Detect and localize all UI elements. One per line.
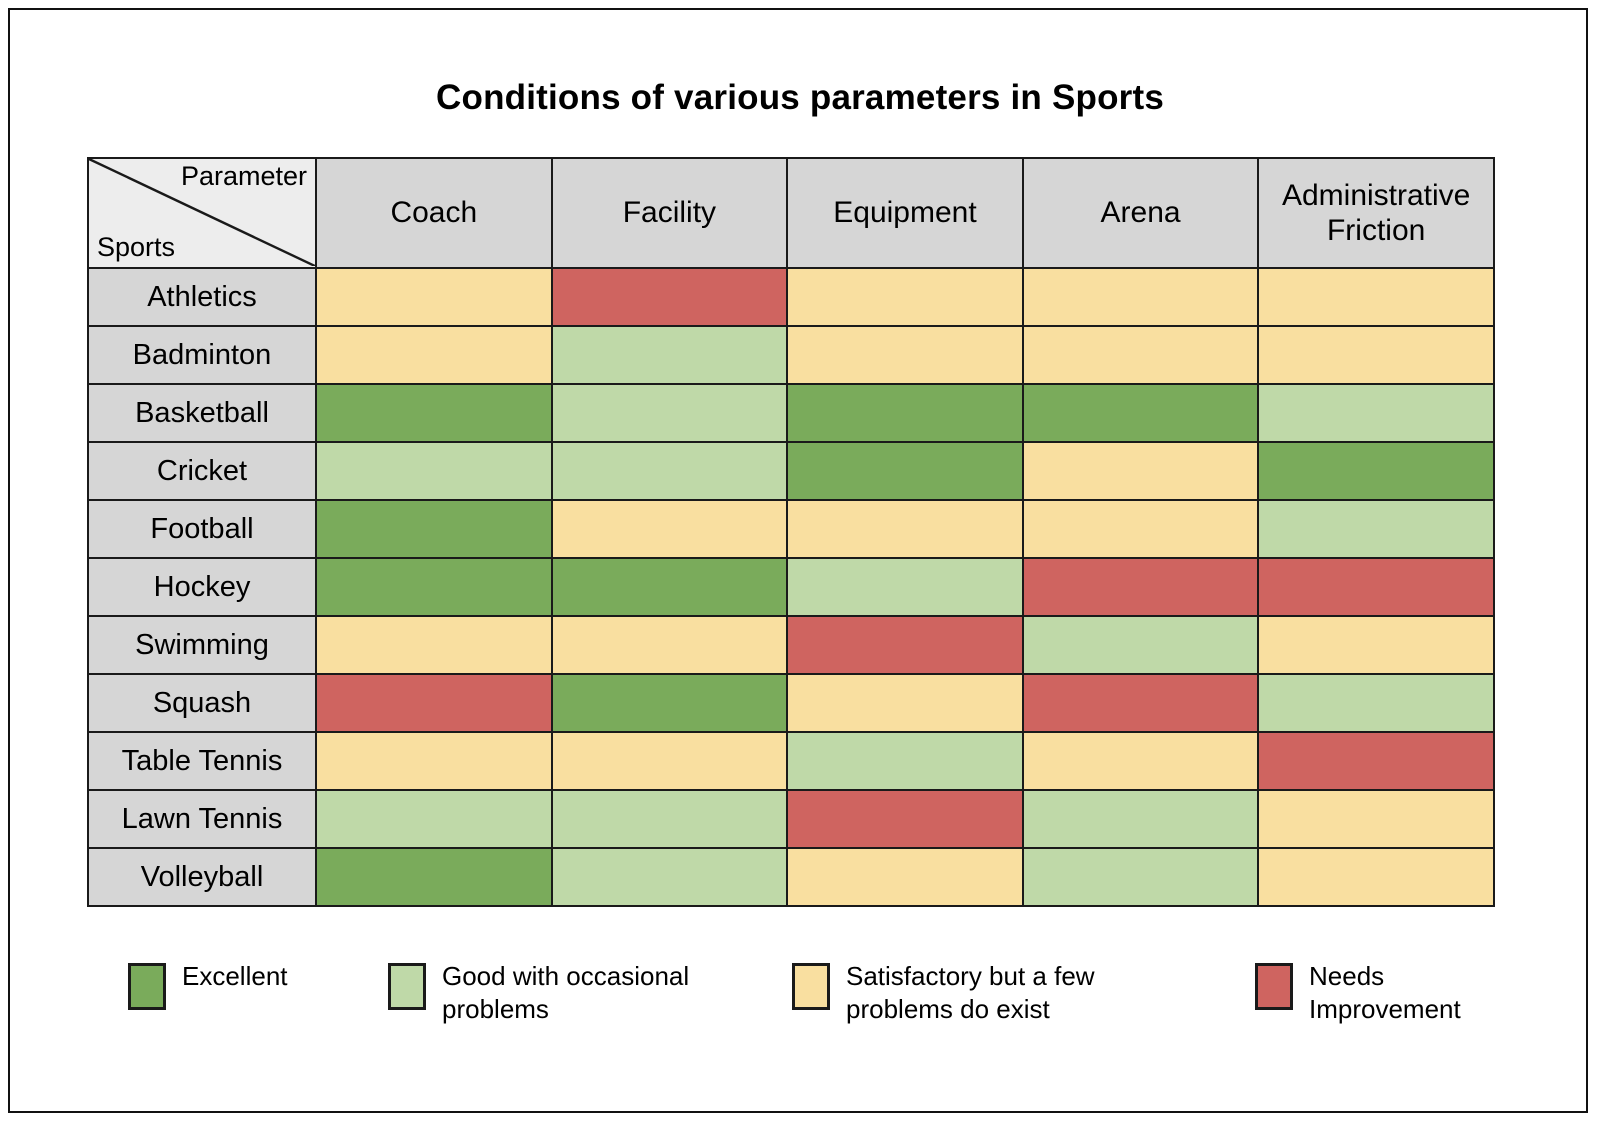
cell-hockey-facility	[552, 558, 788, 616]
matrix-row: Football	[88, 500, 1494, 558]
cell-volleyball-administrative-friction	[1258, 848, 1494, 906]
matrix-row: Volleyball	[88, 848, 1494, 906]
column-header-equipment: Equipment	[787, 158, 1023, 268]
legend-swatch-good	[388, 963, 426, 1010]
matrix-body: AthleticsBadmintonBasketballCricketFootb…	[88, 268, 1494, 906]
cell-swimming-coach	[316, 616, 552, 674]
cell-athletics-facility	[552, 268, 788, 326]
cell-athletics-equipment	[787, 268, 1023, 326]
row-header-table-tennis: Table Tennis	[88, 732, 316, 790]
row-header-badminton: Badminton	[88, 326, 316, 384]
row-header-cricket: Cricket	[88, 442, 316, 500]
cell-football-coach	[316, 500, 552, 558]
cell-table-tennis-equipment	[787, 732, 1023, 790]
cell-volleyball-equipment	[787, 848, 1023, 906]
matrix-row: Cricket	[88, 442, 1494, 500]
legend-item-good: Good with occasional problems	[388, 958, 689, 1027]
matrix-row: Table Tennis	[88, 732, 1494, 790]
legend: Excellent Good with occasional problems …	[10, 958, 1590, 1068]
cell-basketball-facility	[552, 384, 788, 442]
matrix-row: Basketball	[88, 384, 1494, 442]
row-header-football: Football	[88, 500, 316, 558]
cell-cricket-arena	[1023, 442, 1259, 500]
row-header-squash: Squash	[88, 674, 316, 732]
cell-swimming-arena	[1023, 616, 1259, 674]
cell-swimming-administrative-friction	[1258, 616, 1494, 674]
legend-item-satisfactory: Satisfactory but a few problems do exist	[792, 958, 1095, 1027]
conditions-matrix-table: Parameter Sports Coach Facility Equipmen…	[87, 157, 1495, 907]
matrix-row: Badminton	[88, 326, 1494, 384]
column-header-facility: Facility	[552, 158, 788, 268]
row-header-volleyball: Volleyball	[88, 848, 316, 906]
cell-basketball-equipment	[787, 384, 1023, 442]
legend-swatch-satisfactory	[792, 963, 830, 1010]
matrix-corner-header: Parameter Sports	[88, 158, 316, 268]
cell-hockey-equipment	[787, 558, 1023, 616]
row-axis-label: Sports	[97, 234, 175, 261]
cell-squash-facility	[552, 674, 788, 732]
matrix-row: Swimming	[88, 616, 1494, 674]
legend-label-good: Good with occasional problems	[442, 958, 689, 1027]
legend-label-satisfactory: Satisfactory but a few problems do exist	[846, 958, 1095, 1027]
cell-athletics-administrative-friction	[1258, 268, 1494, 326]
legend-item-excellent: Excellent	[128, 958, 288, 1010]
cell-football-arena	[1023, 500, 1259, 558]
row-header-lawn-tennis: Lawn Tennis	[88, 790, 316, 848]
cell-table-tennis-arena	[1023, 732, 1259, 790]
legend-item-needs: Needs Improvement	[1255, 958, 1461, 1027]
cell-lawn-tennis-equipment	[787, 790, 1023, 848]
cell-basketball-arena	[1023, 384, 1259, 442]
cell-swimming-facility	[552, 616, 788, 674]
cell-basketball-coach	[316, 384, 552, 442]
cell-lawn-tennis-arena	[1023, 790, 1259, 848]
row-header-swimming: Swimming	[88, 616, 316, 674]
cell-football-administrative-friction	[1258, 500, 1494, 558]
column-header-coach: Coach	[316, 158, 552, 268]
matrix-row: Lawn Tennis	[88, 790, 1494, 848]
cell-table-tennis-administrative-friction	[1258, 732, 1494, 790]
row-header-basketball: Basketball	[88, 384, 316, 442]
cell-football-equipment	[787, 500, 1023, 558]
cell-basketball-administrative-friction	[1258, 384, 1494, 442]
cell-badminton-arena	[1023, 326, 1259, 384]
row-header-hockey: Hockey	[88, 558, 316, 616]
cell-badminton-facility	[552, 326, 788, 384]
cell-hockey-coach	[316, 558, 552, 616]
cell-table-tennis-facility	[552, 732, 788, 790]
cell-squash-equipment	[787, 674, 1023, 732]
cell-badminton-administrative-friction	[1258, 326, 1494, 384]
cell-lawn-tennis-administrative-friction	[1258, 790, 1494, 848]
cell-squash-coach	[316, 674, 552, 732]
page-frame: Conditions of various parameters in Spor…	[8, 8, 1588, 1113]
matrix-header: Parameter Sports Coach Facility Equipmen…	[88, 158, 1494, 268]
matrix-row: Athletics	[88, 268, 1494, 326]
page-title: Conditions of various parameters in Spor…	[10, 78, 1590, 118]
column-axis-label: Parameter	[181, 163, 307, 190]
legend-swatch-excellent	[128, 963, 166, 1010]
legend-label-excellent: Excellent	[182, 958, 288, 993]
cell-lawn-tennis-facility	[552, 790, 788, 848]
cell-cricket-administrative-friction	[1258, 442, 1494, 500]
column-header-arena: Arena	[1023, 158, 1259, 268]
cell-swimming-equipment	[787, 616, 1023, 674]
legend-label-needs: Needs Improvement	[1309, 958, 1461, 1027]
row-header-athletics: Athletics	[88, 268, 316, 326]
cell-athletics-arena	[1023, 268, 1259, 326]
matrix-row: Squash	[88, 674, 1494, 732]
column-header-administrative-friction: Administrative Friction	[1258, 158, 1494, 268]
cell-volleyball-coach	[316, 848, 552, 906]
cell-volleyball-arena	[1023, 848, 1259, 906]
cell-volleyball-facility	[552, 848, 788, 906]
cell-squash-arena	[1023, 674, 1259, 732]
cell-badminton-equipment	[787, 326, 1023, 384]
cell-cricket-facility	[552, 442, 788, 500]
cell-table-tennis-coach	[316, 732, 552, 790]
cell-football-facility	[552, 500, 788, 558]
legend-swatch-needs	[1255, 963, 1293, 1010]
cell-hockey-arena	[1023, 558, 1259, 616]
cell-squash-administrative-friction	[1258, 674, 1494, 732]
cell-cricket-equipment	[787, 442, 1023, 500]
cell-lawn-tennis-coach	[316, 790, 552, 848]
cell-hockey-administrative-friction	[1258, 558, 1494, 616]
cell-cricket-coach	[316, 442, 552, 500]
header-row: Parameter Sports Coach Facility Equipmen…	[88, 158, 1494, 268]
cell-athletics-coach	[316, 268, 552, 326]
cell-badminton-coach	[316, 326, 552, 384]
matrix-row: Hockey	[88, 558, 1494, 616]
